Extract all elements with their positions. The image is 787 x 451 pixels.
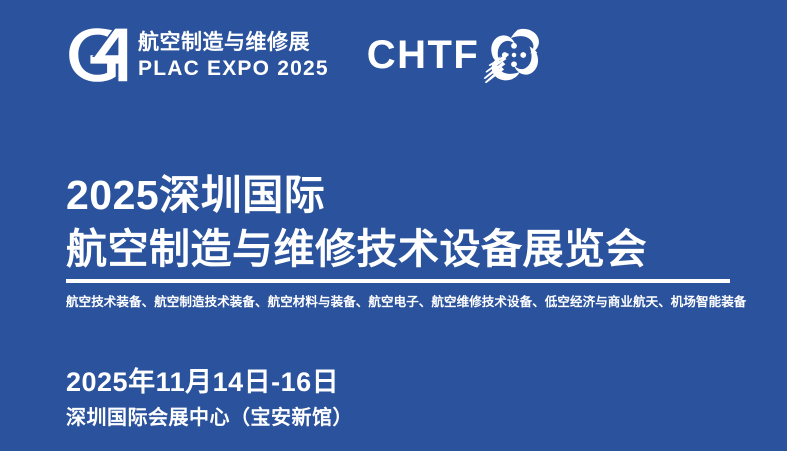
title-divider bbox=[66, 279, 730, 283]
plac-name-cn: 航空制造与维修展 bbox=[138, 32, 329, 53]
logo-row: 航空制造与维修展 PLAC EXPO 2025 CHTF bbox=[66, 24, 547, 86]
g4-logo-icon bbox=[66, 26, 128, 84]
exhibition-poster: 航空制造与维修展 PLAC EXPO 2025 CHTF bbox=[0, 0, 787, 451]
event-date: 2025年11月14日-16日 bbox=[66, 366, 353, 398]
chtf-logo: CHTF bbox=[367, 24, 548, 86]
title-line-2: 航空制造与维修技术设备展览会 bbox=[66, 222, 746, 276]
date-venue-block: 2025年11月14日-16日 深圳国际会展中心（宝安新馆） bbox=[66, 366, 353, 432]
plac-name-en: PLAC EXPO 2025 bbox=[138, 58, 329, 79]
event-venue: 深圳国际会展中心（宝安新馆） bbox=[66, 404, 353, 432]
main-title: 2025深圳国际 航空制造与维修技术设备展览会 bbox=[66, 168, 746, 276]
plac-wordmark: 航空制造与维修展 PLAC EXPO 2025 bbox=[138, 32, 329, 79]
chtf-orbit-icon bbox=[481, 22, 547, 88]
title-line-1: 2025深圳国际 bbox=[66, 168, 746, 222]
chtf-wordmark: CHTF bbox=[367, 35, 480, 75]
category-subtitle: 航空技术装备、航空制造技术装备、航空材料与装备、航空电子、航空维修技术设备、低空… bbox=[66, 291, 766, 310]
